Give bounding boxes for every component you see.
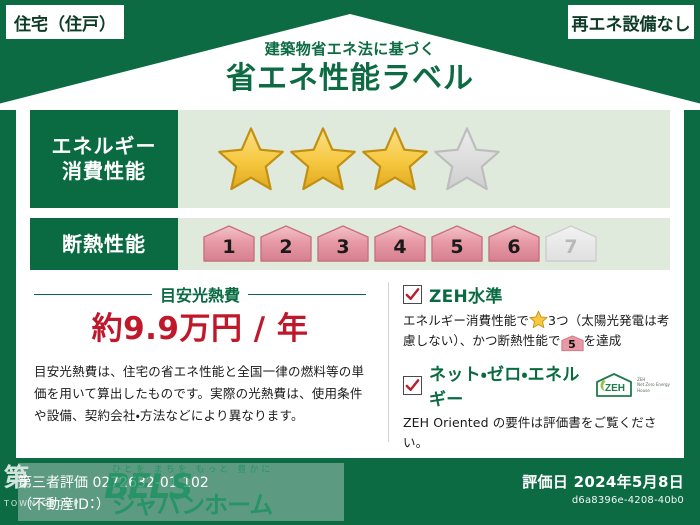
evaluation-date: 評価日 2024年5月8日 [522, 471, 684, 492]
zeh-net-zero-checkbox[interactable] [403, 376, 422, 395]
energy-label-line1: エネルギー [52, 134, 157, 159]
energy-performance-label: エネルギー 消費性能 [30, 110, 178, 208]
utility-cost-heading: 目安光熱費 [34, 282, 366, 306]
insulation-level-2: 2 [259, 225, 313, 263]
zeh-standard-checkbox[interactable] [403, 285, 422, 304]
footer-third-party-and-code: 第三者評価 0272632-01 102 [18, 473, 209, 495]
utility-cost-block: 目安光熱費 約9.9万円 / 年 目安光熱費は、住宅の省エネ性能と全国一律の燃料… [34, 282, 366, 427]
star-icon-filled-3 [360, 125, 430, 193]
footer-property-info: 第三者評価 0272632-01 102 （不動産ID：） [18, 473, 209, 516]
house-badge-level: 5 [561, 335, 584, 354]
footer-third-party: 第三者評価 [18, 475, 88, 491]
footer-property-id: （不動産ID：） [18, 495, 209, 517]
label-body-panel: エネルギー 消費性能 [16, 100, 684, 458]
insulation-level-7: 7 [544, 225, 598, 263]
star-icon-inline [529, 310, 548, 329]
footer-evaluation-info: 評価日 2024年5月8日 d6a8396e-4208-40b0 [522, 471, 684, 506]
zeh-standard-heading: ZEH水準 [403, 282, 670, 307]
insulation-level-scale: 1 2 3 [178, 218, 670, 270]
insulation-level-6: 6 [487, 225, 541, 263]
badge-renewable-status: 再エネ設備なし [568, 5, 694, 39]
zeh-item-standard: ZEH水準 エネルギー消費性能で3つ（太陽光発電は考慮しない）、かつ断熱性能で5… [403, 282, 670, 352]
svg-text:ZEH: ZEH [605, 383, 625, 394]
zeh-net-zero-name: ネット・ゼロ・エネルギー [429, 360, 586, 410]
zeh-logo: ZEH ZEH Net Zero Energy House [593, 371, 670, 399]
insulation-level-3: 3 [316, 225, 370, 263]
zeh-standard-desc: エネルギー消費性能で3つ（太陽光発電は考慮しない）、かつ断熱性能で5を達成 [403, 310, 670, 352]
insulation-level-number-6: 6 [507, 238, 520, 263]
energy-label-line2: 消費性能 [62, 159, 146, 184]
energy-performance-row: エネルギー 消費性能 [30, 110, 670, 208]
insulation-level-number-4: 4 [393, 238, 406, 263]
rule-right [248, 294, 366, 295]
zeh-net-zero-heading: ネット・ゼロ・エネルギー ZEH ZEH Net Zero Energy Hou… [403, 360, 670, 410]
footer-property-code: 0272632-01 102 [92, 475, 208, 491]
check-icon [405, 378, 420, 393]
zeh-item-net-zero: ネット・ゼロ・エネルギー ZEH ZEH Net Zero Energy Hou… [403, 360, 670, 453]
star-icon-empty-4 [432, 125, 502, 193]
zeh-standard-name: ZEH水準 [429, 282, 503, 307]
energy-star-rating [178, 110, 670, 208]
insulation-level-1: 1 [202, 225, 256, 263]
zeh-desc-pre: エネルギー消費性能で [403, 313, 529, 328]
zeh-block: ZEH水準 エネルギー消費性能で3つ（太陽光発電は考慮しない）、かつ断熱性能で5… [388, 282, 670, 442]
rule-left [34, 294, 152, 295]
zeh-desc-post: を達成 [584, 333, 622, 348]
evaluation-id: d6a8396e-4208-40b0 [522, 495, 684, 506]
star-icon-filled-2 [288, 125, 358, 193]
insulation-level-number-2: 2 [279, 238, 292, 263]
insulation-level-4: 4 [373, 225, 427, 263]
zeh-house-logo-icon: ZEH [593, 371, 635, 399]
insulation-level-number-3: 3 [336, 238, 349, 263]
insulation-level-number-7: 7 [564, 238, 577, 263]
insulation-performance-label: 断熱性能 [30, 218, 178, 270]
insulation-level-number-1: 1 [222, 238, 235, 263]
utility-cost-title: 目安光熱費 [160, 282, 240, 306]
check-icon [405, 287, 420, 302]
zeh-logo-caption: ZEH Net Zero Energy House [637, 377, 670, 393]
zeh-logo-caption-line2: Net Zero Energy House [637, 382, 670, 392]
badge-building-type: 住宅（住戸） [6, 5, 124, 39]
label-footer: 第三者評価 0272632-01 102 （不動産ID：） 評価日 2024年5… [0, 459, 700, 525]
star-icon-filled-1 [216, 125, 286, 193]
zeh-net-zero-desc: ZEH Oriented の要件は評価書をご覧ください。 [403, 413, 670, 453]
utility-cost-note: 目安光熱費は、住宅の省エネ性能と全国一律の燃料等の単価を用いて算出したものです。… [34, 361, 366, 427]
insulation-level-5: 5 [430, 225, 484, 263]
energy-performance-label: 建築物省エネ法に基づく 省エネ性能ラベル 住宅（住戸） 再エネ設備なし エネルギ… [0, 0, 700, 525]
insulation-level-number-5: 5 [450, 238, 463, 263]
house-badge-inline-5: 5 [561, 335, 584, 352]
utility-cost-amount: 約9.9万円 / 年 [34, 314, 366, 345]
insulation-performance-row: 断熱性能 1 [30, 218, 670, 270]
